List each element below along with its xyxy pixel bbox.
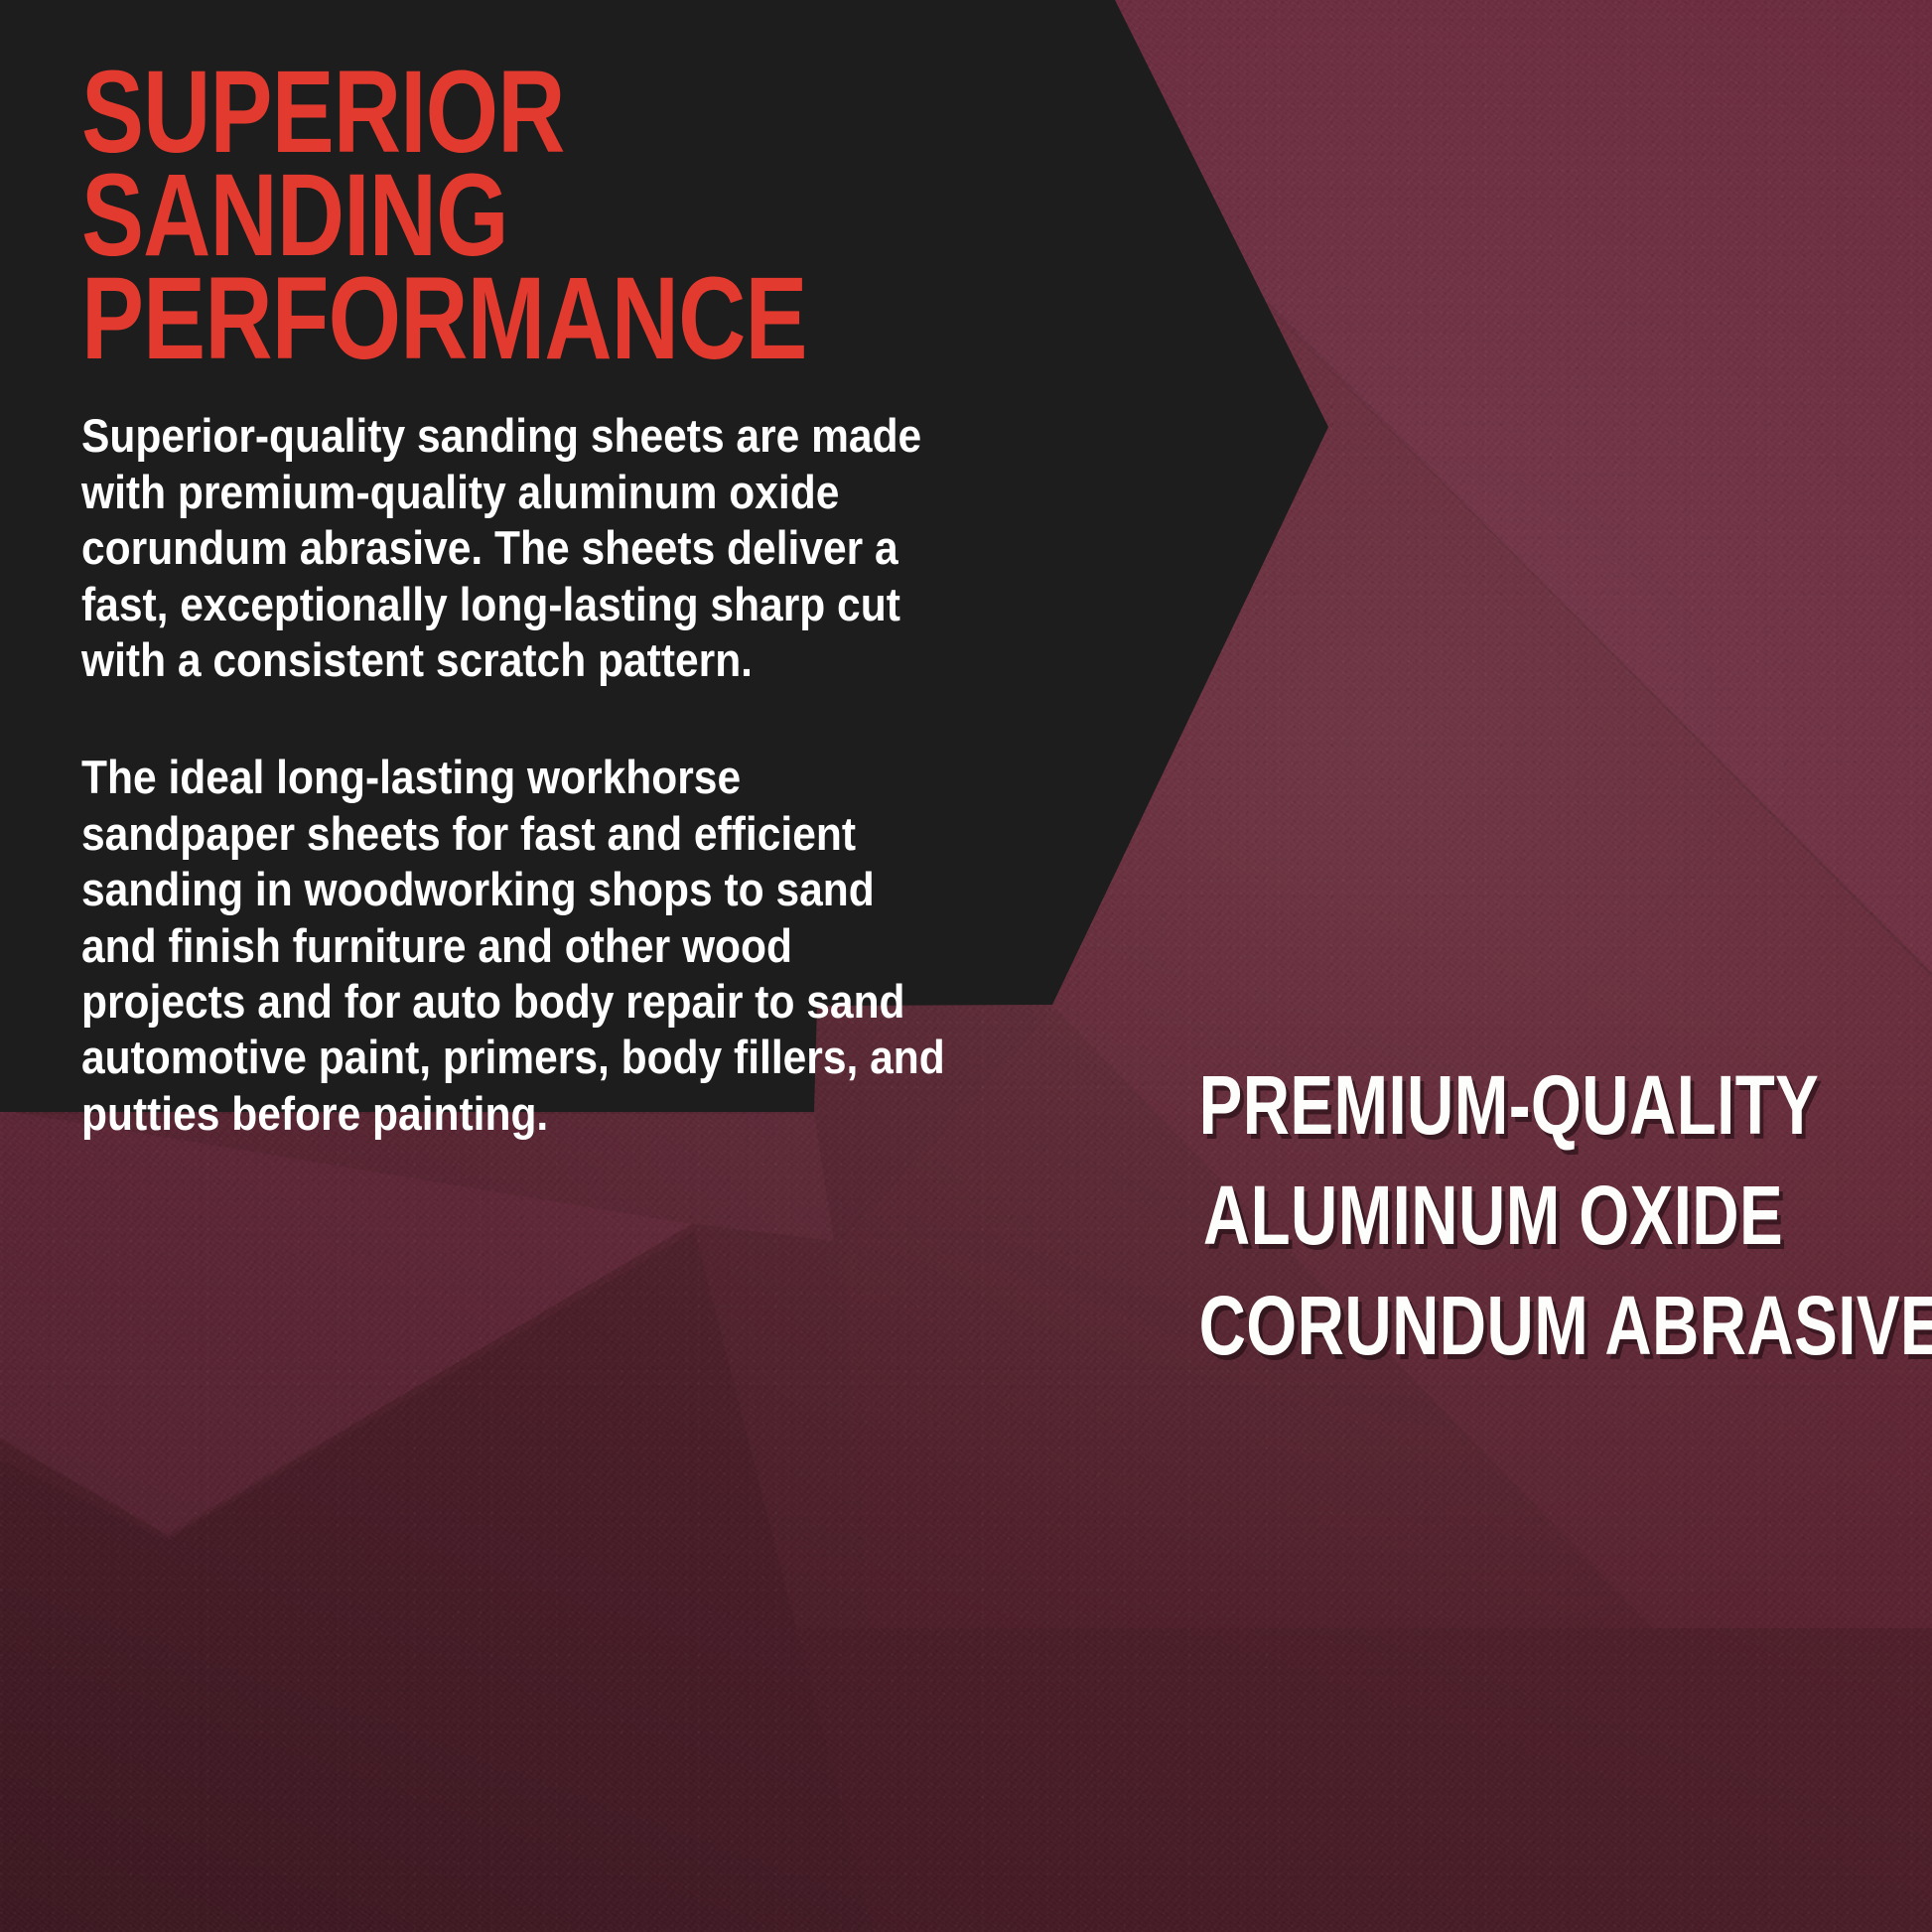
copy-block: SUPERIOR SANDING PERFORMANCE Superior-qu… xyxy=(81,62,955,1142)
callout-line-1: PREMIUM-QUALITY xyxy=(1199,1050,1788,1161)
product-marketing-banner: SUPERIOR SANDING PERFORMANCE Superior-qu… xyxy=(0,0,1932,1932)
page-title: SUPERIOR SANDING PERFORMANCE xyxy=(81,62,955,370)
product-callout: PREMIUM-QUALITY ALUMINUM OXIDE CORUNDUM … xyxy=(1116,1050,1870,1381)
body-paragraph-1: Superior-quality sanding sheets are made… xyxy=(81,408,948,688)
callout-line-3: CORUNDUM ABRASIVE xyxy=(1199,1271,1788,1381)
callout-line-2: ALUMINUM OXIDE xyxy=(1199,1161,1788,1271)
body-paragraph-2: The ideal long-lasting workhorse sandpap… xyxy=(81,750,948,1142)
